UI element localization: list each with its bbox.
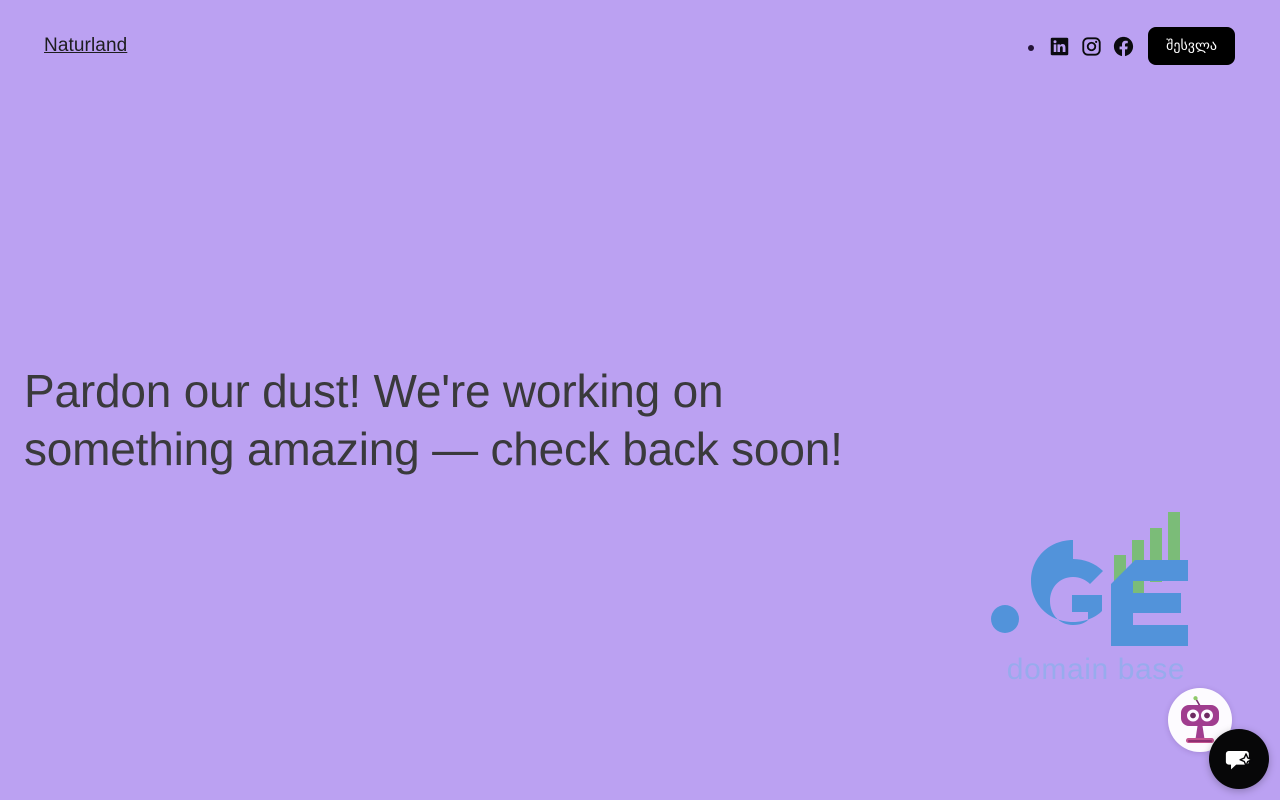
watermark-caption: domain base <box>990 655 1202 685</box>
site-header: Naturland შესვლა <box>0 0 1280 92</box>
chat-bubble-icon <box>1224 744 1254 774</box>
login-button[interactable]: შესვლა <box>1148 27 1235 65</box>
broken-image-placeholder-icon <box>1028 45 1034 51</box>
page-title: Pardon our dust! We're working on someth… <box>24 362 924 479</box>
linkedin-icon[interactable] <box>1048 35 1071 58</box>
social-links <box>1048 35 1135 58</box>
domain-base-watermark: domain base <box>990 500 1202 700</box>
header-actions: შესვლა <box>1028 27 1235 65</box>
chat-launcher-button[interactable] <box>1209 729 1269 789</box>
instagram-icon[interactable] <box>1080 35 1103 58</box>
ge-logo-icon <box>990 500 1202 660</box>
hero-section: Pardon our dust! We're working on someth… <box>24 362 924 479</box>
brand-logo[interactable]: Naturland <box>44 36 127 57</box>
facebook-icon[interactable] <box>1112 35 1135 58</box>
